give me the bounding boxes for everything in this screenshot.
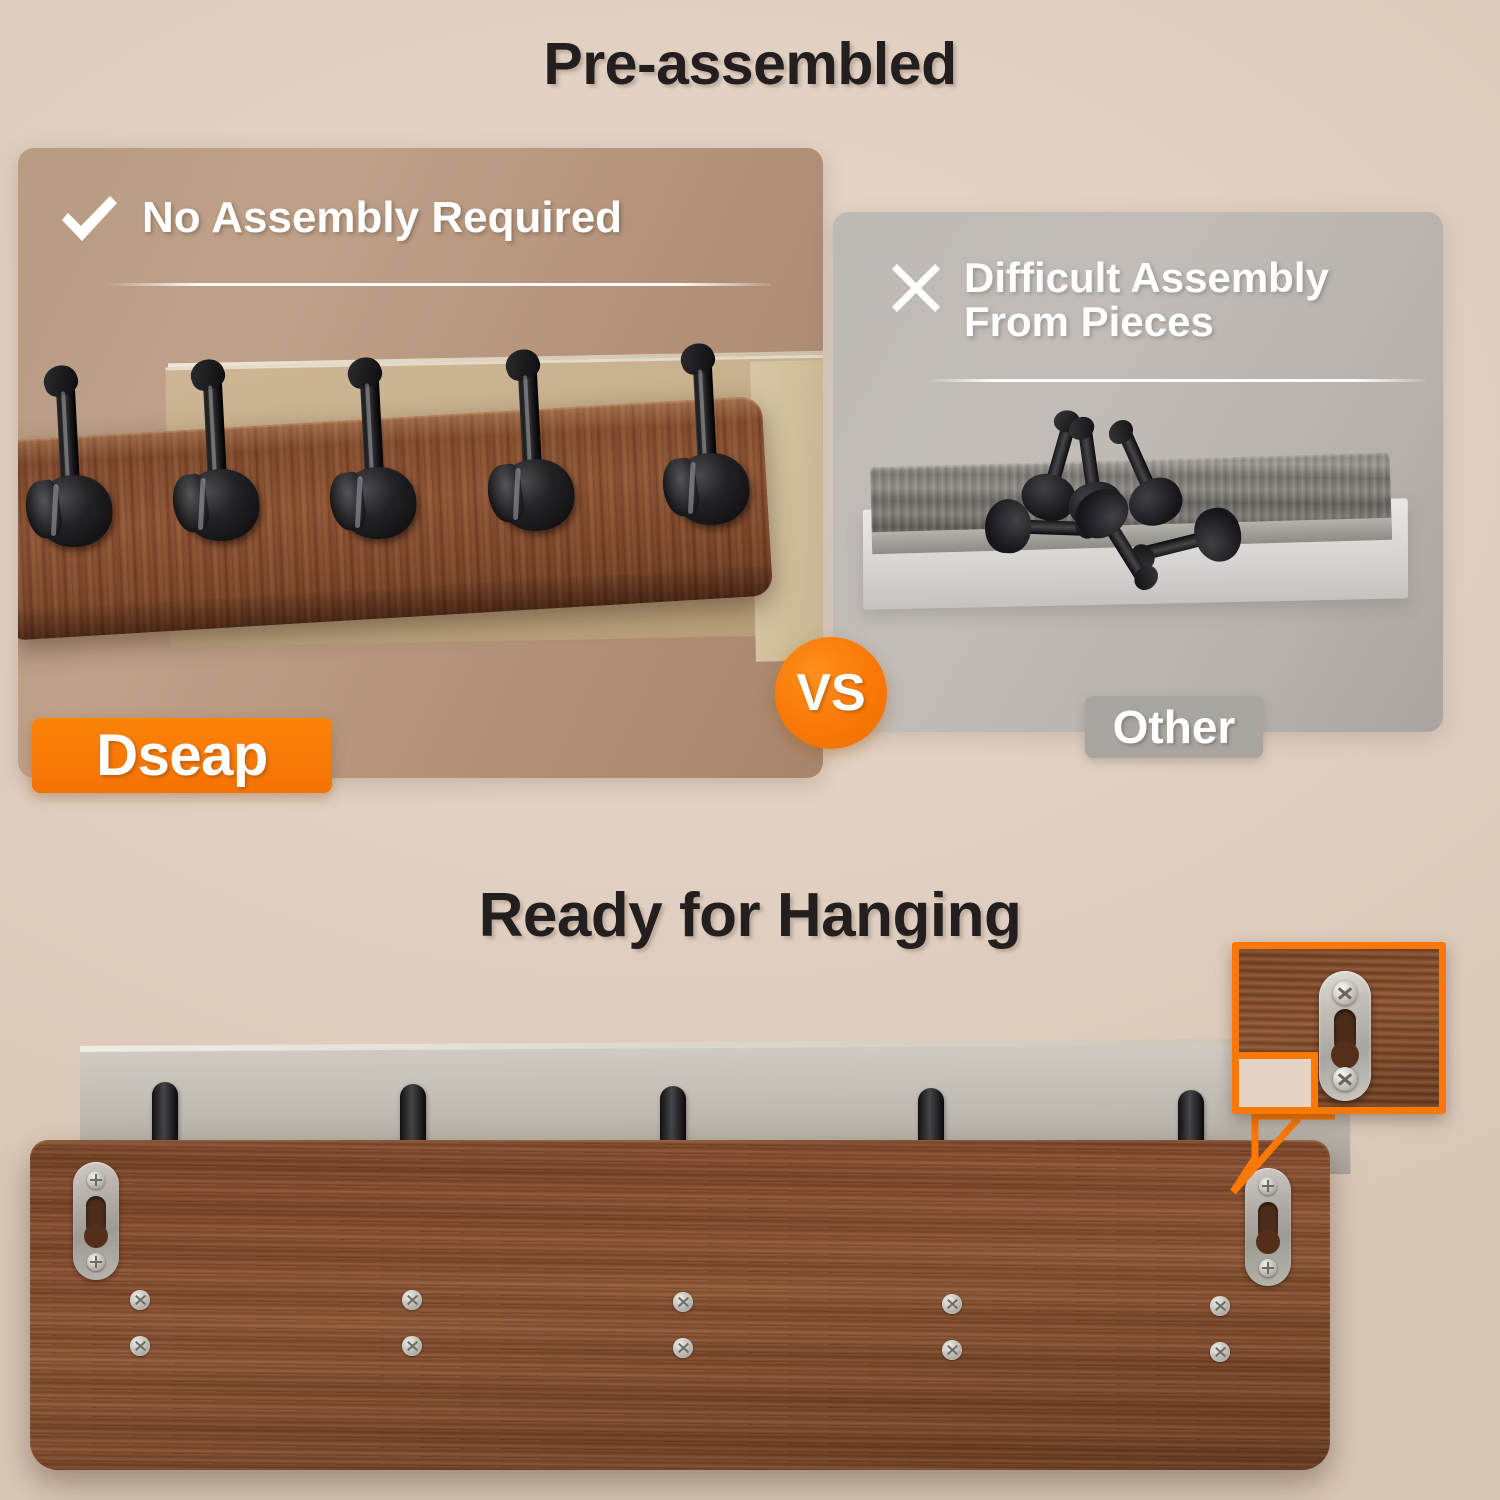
panel-divider-right — [925, 379, 1425, 382]
mounting-screw — [130, 1336, 150, 1356]
comparison-panel-other: Difficult Assembly From Pieces — [833, 212, 1443, 732]
dseap-headline-text: No Assembly Required — [142, 195, 622, 241]
cross-icon — [888, 260, 944, 316]
mounting-screw — [673, 1292, 693, 1312]
page-title-bottom: Ready for Hanging — [0, 880, 1500, 951]
check-icon — [58, 193, 120, 245]
keyhole-hanger — [73, 1162, 119, 1280]
mounting-screw — [402, 1290, 422, 1310]
mounting-screw — [673, 1338, 693, 1358]
dseap-headline-row: No Assembly Required — [58, 193, 622, 245]
versus-badge: VS — [775, 637, 887, 749]
brand-badge-other: Other — [1085, 696, 1263, 758]
product-photo-disassembled-rack — [833, 382, 1443, 712]
brand-badge-dseap: Dseap — [32, 718, 332, 793]
other-headline-text: Difficult Assembly From Pieces — [964, 256, 1329, 343]
coat-hook — [483, 353, 589, 548]
mounting-screw — [1210, 1342, 1230, 1362]
mounting-screw — [942, 1294, 962, 1314]
page-title-top: Pre-assembled — [0, 30, 1500, 98]
other-headline-row: Difficult Assembly From Pieces — [888, 260, 1329, 343]
mounting-screw — [1210, 1296, 1230, 1316]
mounting-screw — [402, 1336, 422, 1356]
coat-hook — [21, 369, 127, 564]
coat-hook — [325, 361, 431, 556]
panel-divider-left — [106, 283, 771, 286]
keyhole-detail-callout — [1232, 942, 1446, 1114]
product-photo-assembled-rack — [18, 343, 823, 778]
coat-hook — [658, 347, 764, 542]
mounting-screw — [130, 1290, 150, 1310]
keyhole-hanger-zoomed — [1319, 971, 1371, 1101]
callout-notch — [1232, 1052, 1318, 1114]
rack-back-board — [30, 1140, 1330, 1470]
mounting-screw — [942, 1340, 962, 1360]
comparison-panel-dseap: No Assembly Required — [18, 148, 823, 778]
coat-hook — [168, 363, 274, 558]
